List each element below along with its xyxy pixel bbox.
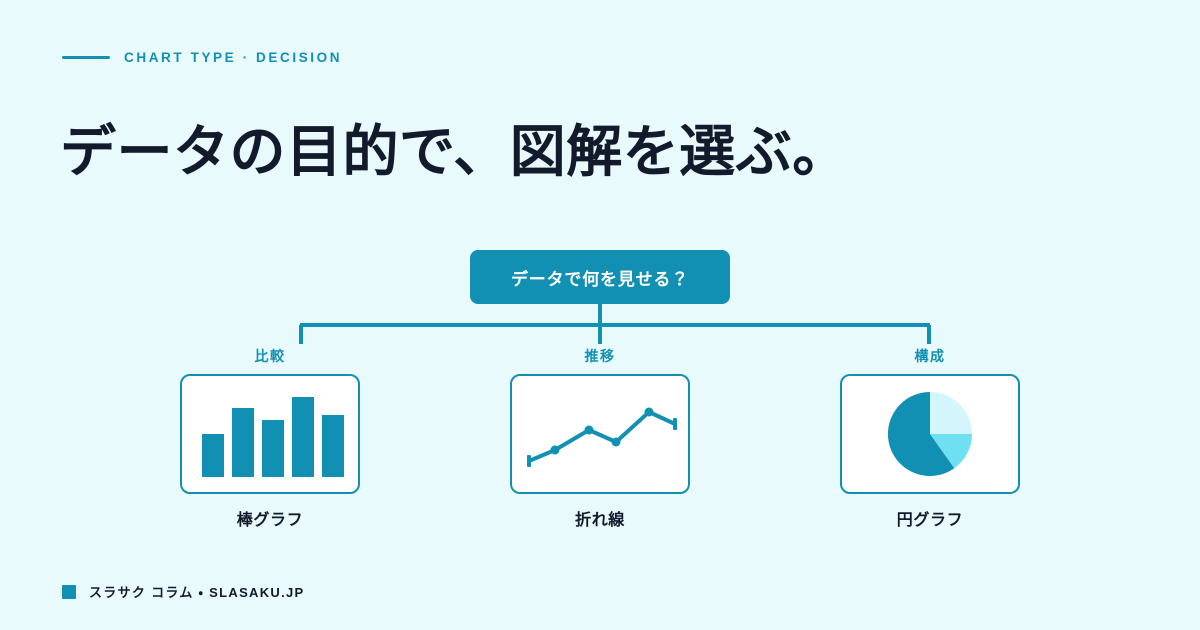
card-caption-pie: 円グラフ bbox=[840, 506, 1020, 530]
eyebrow: CHART TYPE · DECISION bbox=[62, 50, 342, 65]
bar-chart-graphic bbox=[182, 376, 358, 492]
card-pie-chart[interactable] bbox=[840, 374, 1020, 494]
eyebrow-dash-icon bbox=[62, 56, 110, 59]
card-bar-chart[interactable] bbox=[180, 374, 360, 494]
page-title: データの目的で、図解を選ぶ。 bbox=[60, 118, 849, 185]
poster-canvas: CHART TYPE · DECISION データの目的で、図解を選ぶ。 データ… bbox=[0, 0, 1200, 630]
connector-lines bbox=[0, 0, 1200, 630]
line-chart-graphic bbox=[512, 376, 688, 492]
eyebrow-label: CHART TYPE · DECISION bbox=[124, 50, 342, 65]
root-node-label: データで何を見せる？ bbox=[511, 265, 689, 290]
card-caption-line: 折れ線 bbox=[510, 506, 690, 530]
pie-chart-graphic bbox=[842, 376, 1018, 492]
root-node[interactable]: データで何を見せる？ bbox=[470, 250, 730, 304]
brand-square-icon bbox=[62, 585, 76, 599]
branch-label-composition: 構成 bbox=[850, 346, 1010, 366]
card-caption-bar: 棒グラフ bbox=[180, 506, 360, 530]
branch-label-comparison: 比較 bbox=[190, 346, 350, 366]
footer: スラサク コラム ・ SLASAKU.JP bbox=[62, 582, 305, 601]
card-line-chart[interactable] bbox=[510, 374, 690, 494]
footer-label: スラサク コラム ・ SLASAKU.JP bbox=[89, 582, 305, 601]
branch-label-trend: 推移 bbox=[520, 346, 680, 366]
